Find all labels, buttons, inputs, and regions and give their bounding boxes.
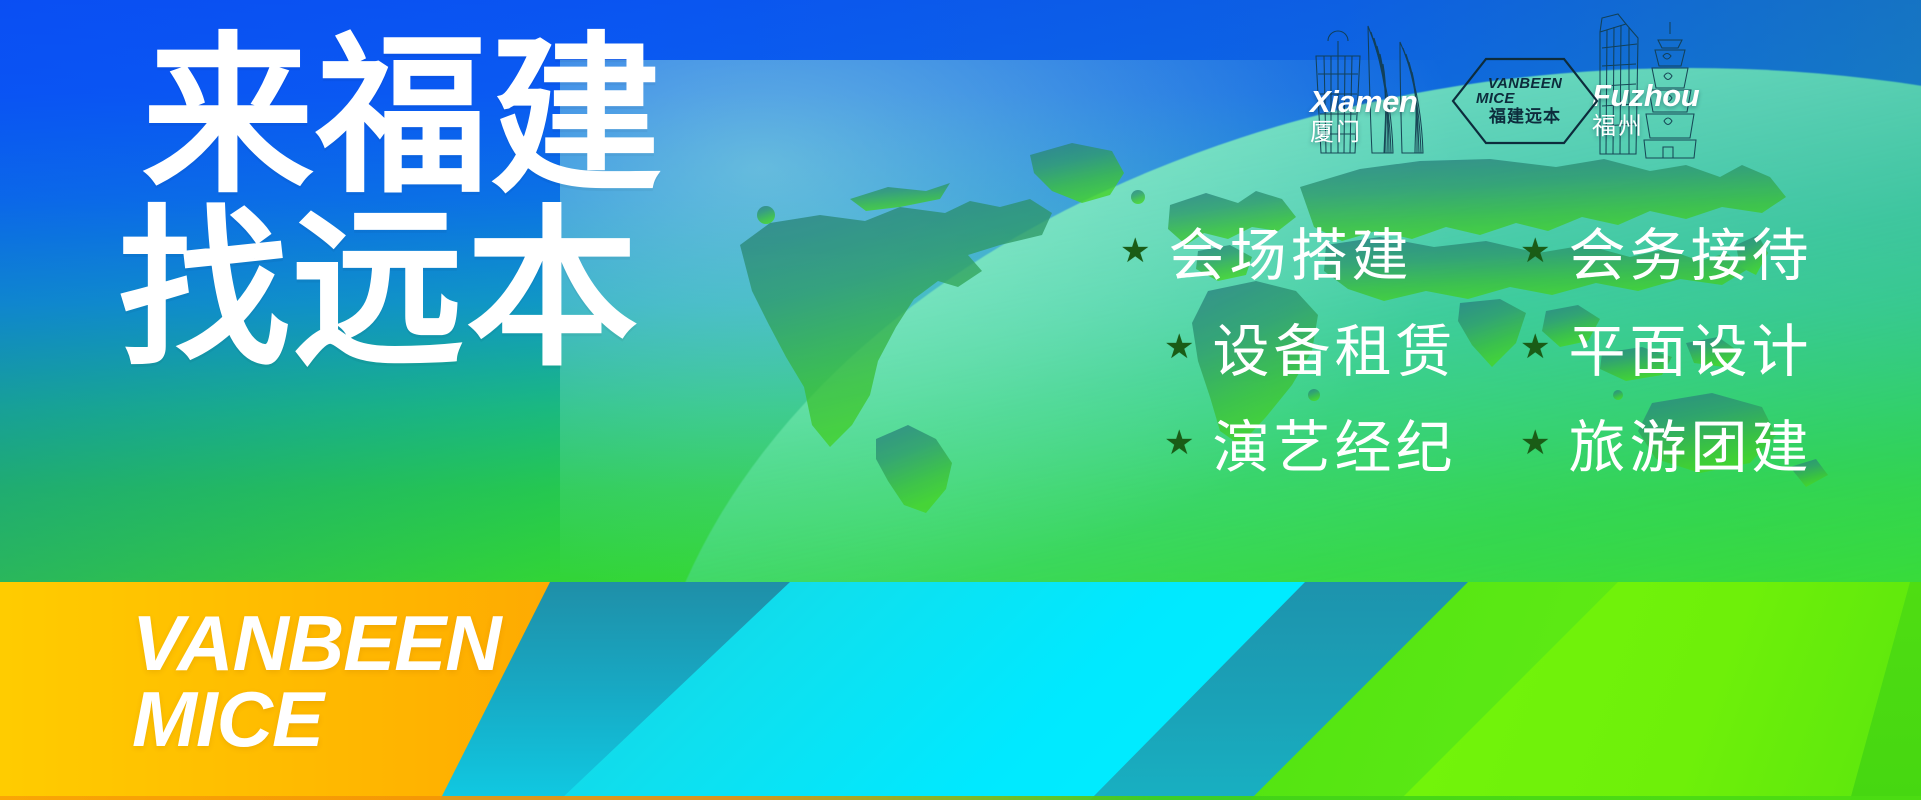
banner-bottom-band: VANBEEN MICE [0,582,1921,800]
service-label: 旅游团建 [1568,402,1812,484]
brand-line-2: MICE [132,684,501,756]
service-item-0[interactable]: ★ 会场搭建 [1120,210,1510,292]
service-item-2[interactable]: ★ 设备租赁 [1164,306,1510,388]
city-label-fuzhou: Fuzhou 福州 [1592,80,1699,141]
city-name-cn: 福州 [1592,113,1699,141]
city-name-en: Xiamen [1310,86,1417,117]
bottom-hairline [0,796,1921,800]
service-label: 设备租赁 [1212,306,1456,388]
service-item-5[interactable]: ★ 旅游团建 [1520,402,1910,484]
city-name-cn: 厦门 [1310,119,1417,147]
hex-logo-line-3: 福建远本 [1489,109,1561,126]
star-icon: ★ [1520,234,1550,268]
banner-top-panel: 来福建 找远本 ★ 会场搭建 ★ 会务接待 ★ 设备租赁 ★ 平面设计 ★ [0,0,1921,582]
brand-wordmark: VANBEEN MICE [132,608,501,756]
hex-logo-text: VANBEEN MICE 福建远本 [1450,56,1600,146]
service-label: 会务接待 [1568,210,1812,292]
city-logo-bar: Xiamen 厦门 Fuzhou 福州 VANBEEN MICE 福建远本 [1300,8,1780,173]
service-item-4[interactable]: ★ 演艺经纪 [1164,402,1510,484]
service-list: ★ 会场搭建 ★ 会务接待 ★ 设备租赁 ★ 平面设计 ★ 演艺经纪 ★ 旅游团… [1120,210,1910,484]
service-label: 会场搭建 [1168,210,1412,292]
headline: 来福建 找远本 [118,34,738,372]
service-item-1[interactable]: ★ 会务接待 [1520,210,1910,292]
headline-line-2: 找远本 [118,207,738,372]
service-label: 平面设计 [1568,306,1812,388]
city-name-en: Fuzhou [1592,80,1699,111]
service-label: 演艺经纪 [1212,402,1456,484]
brand-line-1: VANBEEN [132,608,501,680]
star-icon: ★ [1520,426,1550,460]
service-item-3[interactable]: ★ 平面设计 [1520,306,1910,388]
vanbeen-hex-logo[interactable]: VANBEEN MICE 福建远本 [1450,56,1600,146]
star-icon: ★ [1164,330,1194,364]
hex-logo-line-2: MICE [1476,91,1515,106]
star-icon: ★ [1120,234,1150,268]
headline-line-1: 来福建 [142,34,738,199]
star-icon: ★ [1520,330,1550,364]
star-icon: ★ [1164,426,1194,460]
banner-root: 来福建 找远本 ★ 会场搭建 ★ 会务接待 ★ 设备租赁 ★ 平面设计 ★ [0,0,1921,800]
hex-logo-line-1: VANBEEN [1488,76,1562,91]
city-label-xiamen: Xiamen 厦门 [1310,86,1417,147]
